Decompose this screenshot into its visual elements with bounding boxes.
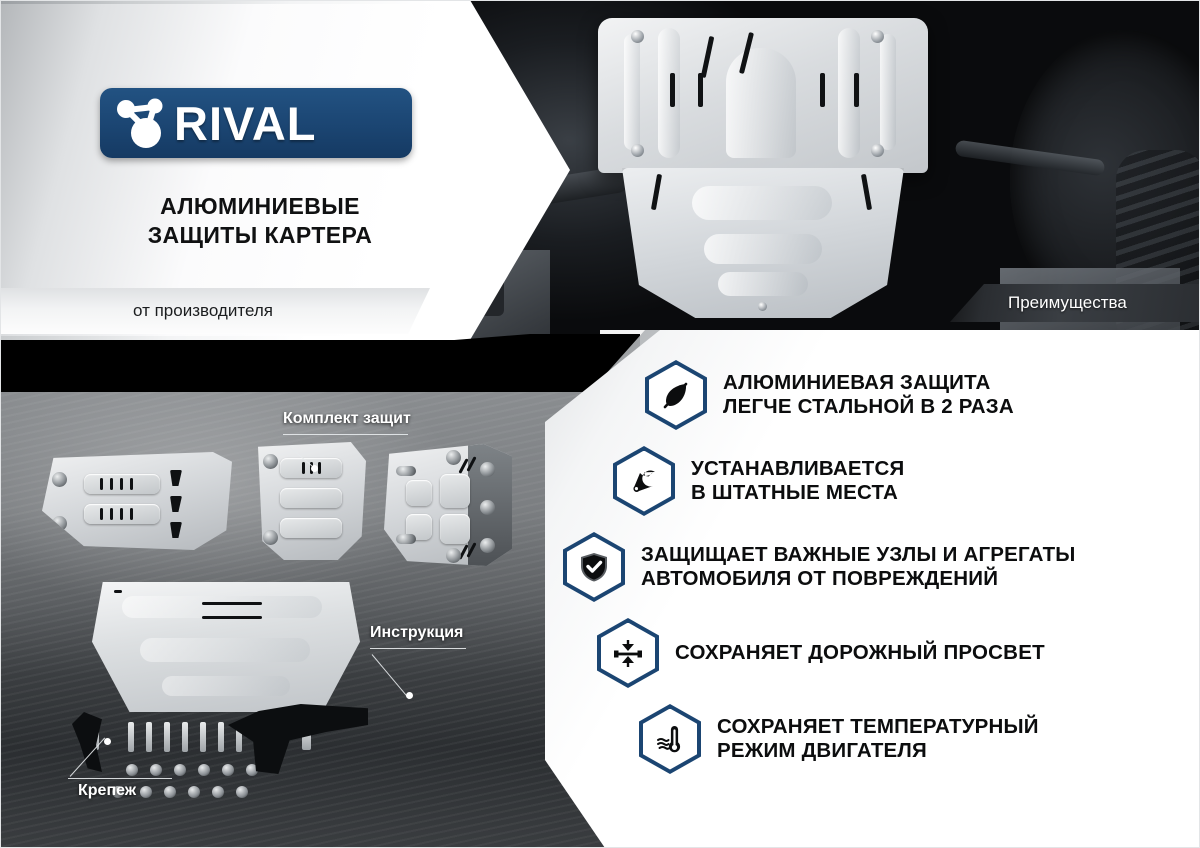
skid-plate-main xyxy=(92,582,360,712)
page-title-line2: ЗАЩИТЫ КАРТЕРА xyxy=(60,221,460,250)
page-title-line1: АЛЮМИНИЕВЫЕ xyxy=(60,192,460,221)
feature-label-temperature: СОХРАНЯЕТ ТЕМПЕРАТУРНЫЙ РЕЖИМ ДВИГАТЕЛЯ xyxy=(717,715,1039,763)
shield-check-icon xyxy=(563,532,625,602)
callout-instruction-label: Инструкция xyxy=(370,624,463,642)
poster-root: RIVAL АЛЮМИНИЕВЫЕ ЗАЩИТЫ КАРТЕРА от прои… xyxy=(0,0,1200,848)
page-title: АЛЮМИНИЕВЫЕ ЗАЩИТЫ КАРТЕРА xyxy=(60,192,460,251)
callout-kit-dot xyxy=(311,465,318,472)
feature-label-protection: ЗАЩИЩАЕТ ВАЖНЫЕ УЗЛЫ И АГРЕГАТЫ АВТОМОБИ… xyxy=(641,543,1076,591)
feature-label-installation: УСТАНАВЛИВАЕТСЯ В ШТАТНЫЕ МЕСТА xyxy=(691,457,904,505)
callout-fasteners-underline xyxy=(68,778,172,779)
feature-line2: В ШТАТНЫЕ МЕСТА xyxy=(691,481,904,505)
leaf-icon xyxy=(645,360,707,430)
subtitle-text: от производителя xyxy=(0,288,430,334)
feature-item-temperature: СОХРАНЯЕТ ТЕМПЕРАТУРНЫЙ РЕЖИМ ДВИГАТЕЛЯ xyxy=(639,704,1190,774)
callout-fasteners-dot xyxy=(104,738,111,745)
advantages-badge-label: Преимущества xyxy=(950,284,1200,322)
feature-line2: АВТОМОБИЛЯ ОТ ПОВРЕЖДЕНИЙ xyxy=(641,567,1076,591)
feature-item-aluminium: АЛЮМИНИЕВАЯ ЗАЩИТА ЛЕГЧЕ СТАЛЬНОЙ В 2 РА… xyxy=(645,360,1190,430)
callout-instruction-underline xyxy=(370,648,466,649)
feature-line1: ЗАЩИЩАЕТ ВАЖНЫЕ УЗЛЫ И АГРЕГАТЫ xyxy=(641,543,1076,567)
feature-item-clearance: СОХРАНЯЕТ ДОРОЖНЫЙ ПРОСВЕТ xyxy=(597,618,1190,688)
advantages-badge: Преимущества xyxy=(950,284,1200,322)
feature-label-clearance: СОХРАНЯЕТ ДОРОЖНЫЙ ПРОСВЕТ xyxy=(675,641,1045,665)
molecule-icon xyxy=(110,94,172,152)
skid-plate-2 xyxy=(258,442,366,560)
thermometer-icon xyxy=(639,704,701,774)
feature-item-installation: УСТАНАВЛИВАЕТСЯ В ШТАТНЫЕ МЕСТА xyxy=(613,446,1190,516)
callout-instruction-dot xyxy=(406,692,413,699)
callout-kit-underline xyxy=(283,434,408,435)
logo-wordmark: RIVAL xyxy=(174,100,317,147)
feature-line1: СОХРАНЯЕТ ТЕМПЕРАТУРНЫЙ xyxy=(717,715,1039,739)
callout-instruction-leader xyxy=(372,654,410,699)
callout-fasteners-label: Крепеж xyxy=(78,782,136,800)
feature-line2: ЛЕГЧЕ СТАЛЬНОЙ В 2 РАЗА xyxy=(723,395,1014,419)
features-list: АЛЮМИНИЕВАЯ ЗАЩИТА ЛЕГЧЕ СТАЛЬНОЙ В 2 РА… xyxy=(645,360,1190,790)
subtitle-bar: от производителя xyxy=(0,288,430,334)
callout-kit-label: Комплект защит xyxy=(283,410,411,428)
ground-clearance-icon xyxy=(597,618,659,688)
feature-line1: АЛЮМИНИЕВАЯ ЗАЩИТА xyxy=(723,371,1014,395)
skid-plate-lower xyxy=(622,168,904,318)
rival-logo: RIVAL xyxy=(100,88,412,158)
skid-plate-3 xyxy=(384,444,512,566)
wrench-icon xyxy=(613,446,675,516)
feature-line1: УСТАНАВЛИВАЕТСЯ xyxy=(691,457,904,481)
product-scene: Комплект защит Инструкция Крепеж xyxy=(0,392,640,848)
skid-plate-upper xyxy=(598,18,928,173)
header-panel xyxy=(0,4,552,336)
feature-line1: СОХРАНЯЕТ ДОРОЖНЫЙ ПРОСВЕТ xyxy=(675,641,1045,665)
feature-label-aluminium: АЛЮМИНИЕВАЯ ЗАЩИТА ЛЕГЧЕ СТАЛЬНОЙ В 2 РА… xyxy=(723,371,1014,419)
feature-line2: РЕЖИМ ДВИГАТЕЛЯ xyxy=(717,739,1039,763)
feature-item-protection: ЗАЩИЩАЕТ ВАЖНЫЕ УЗЛЫ И АГРЕГАТЫ АВТОМОБИ… xyxy=(563,532,1190,602)
